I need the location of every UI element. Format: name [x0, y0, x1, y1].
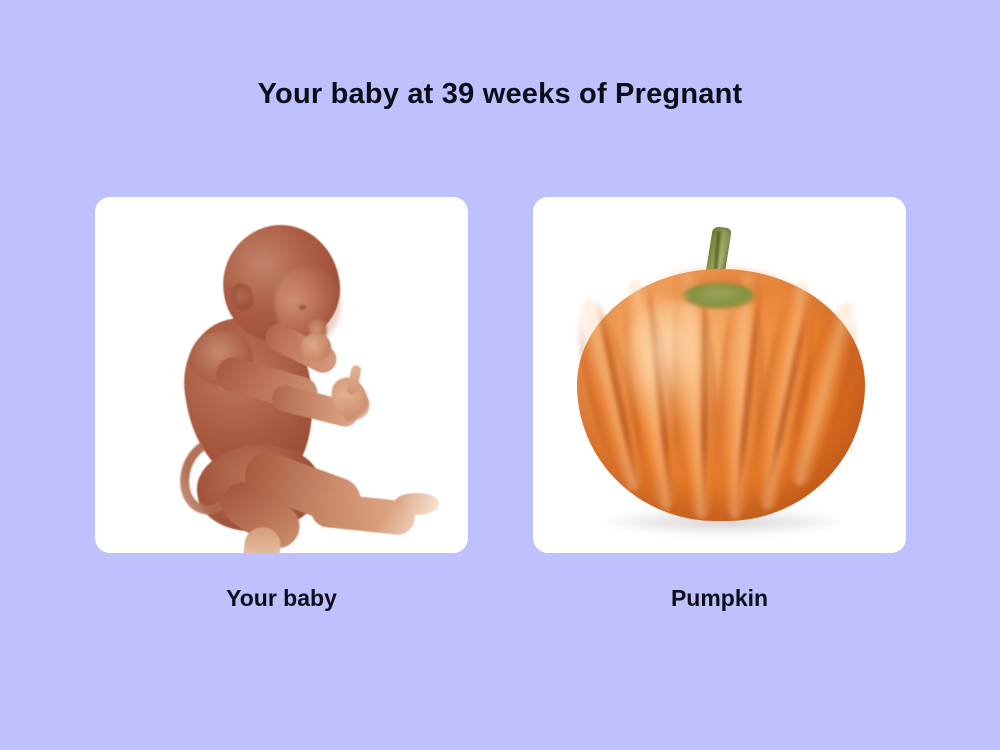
comparison-page: Your baby at 39 weeks of Pregnant: [0, 0, 1000, 750]
pumpkin-caption: Pumpkin: [533, 585, 906, 612]
fetus-eye-shape: [299, 305, 306, 310]
baby-image-card[interactable]: [95, 197, 468, 553]
fetus-illustration: [95, 197, 468, 553]
pumpkin-image-card[interactable]: [533, 197, 906, 553]
baby-caption: Your baby: [95, 585, 468, 612]
pumpkin-highlight: [619, 303, 723, 435]
comparison-item-pumpkin: Pumpkin: [533, 197, 906, 612]
fetus-right-foot-shape: [394, 491, 439, 516]
page-title: Your baby at 39 weeks of Pregnant: [0, 78, 1000, 111]
pumpkin-photo: [533, 197, 906, 553]
pumpkin-stem-base: [683, 283, 755, 309]
comparison-row: Your baby: [0, 197, 1000, 617]
comparison-item-baby: Your baby: [95, 197, 468, 612]
